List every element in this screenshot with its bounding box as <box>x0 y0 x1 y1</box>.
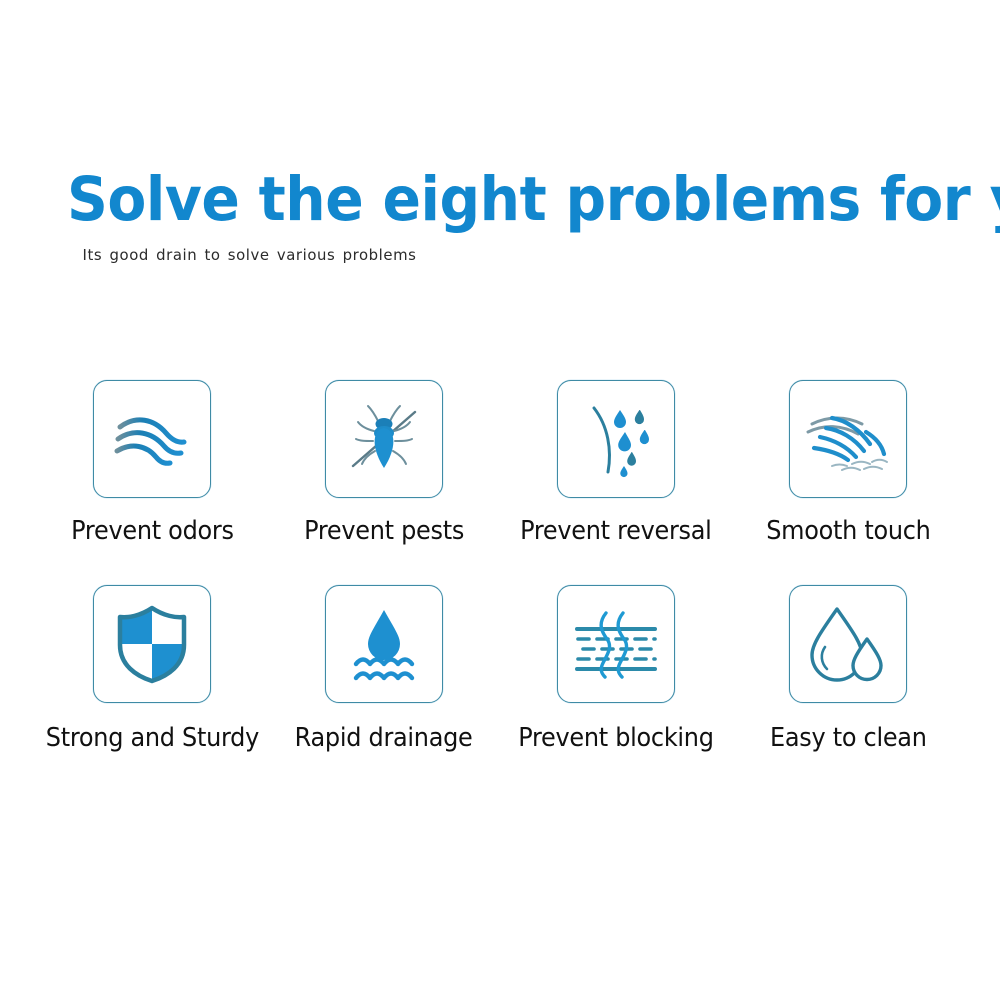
hand-smooth-surface-icon <box>802 402 894 476</box>
icon-box-prevent-blocking <box>557 585 675 703</box>
feature-easy-to-clean[interactable]: Easy to clean <box>742 585 954 752</box>
feature-prevent-reversal[interactable]: Prevent reversal <box>510 380 722 545</box>
icon-box-prevent-odors <box>93 380 211 498</box>
page-subtitle: Its good drain to solve various problems <box>0 232 960 264</box>
icon-box-easy-to-clean <box>789 585 907 703</box>
droplet-waves-icon <box>346 604 422 684</box>
feature-prevent-odors[interactable]: Prevent odors <box>46 380 258 545</box>
feature-strong-and-sturdy[interactable]: Strong and Sturdy <box>46 585 258 752</box>
icon-box-prevent-reversal <box>557 380 675 498</box>
backflow-droplets-icon <box>578 400 654 478</box>
shield-icon <box>114 603 190 685</box>
two-droplets-icon <box>807 603 889 685</box>
feature-label: Prevent pests <box>304 519 464 545</box>
feature-prevent-blocking[interactable]: Prevent blocking <box>510 585 722 752</box>
feature-rapid-drainage[interactable]: Rapid drainage <box>278 585 490 752</box>
icon-box-rapid-drainage <box>325 585 443 703</box>
feature-row-1: Prevent odors <box>0 380 1000 545</box>
feature-label: Strong and Sturdy <box>45 726 258 752</box>
odor-waves-icon <box>112 407 192 471</box>
feature-grid: Prevent odors <box>0 380 1000 751</box>
flow-through-layers-icon <box>573 607 659 681</box>
feature-label: Prevent blocking <box>518 726 713 752</box>
feature-label: Easy to clean <box>770 726 927 752</box>
bug-blocked-icon <box>345 400 423 478</box>
icon-box-prevent-pests <box>325 380 443 498</box>
page-title: Solve the eight problems for you <box>0 168 930 232</box>
icon-box-strong-and-sturdy <box>93 585 211 703</box>
page-header: Solve the eight problems for you Its goo… <box>0 168 1000 264</box>
feature-label: Smooth touch <box>766 519 930 545</box>
feature-label: Rapid drainage <box>295 726 473 752</box>
feature-smooth-touch[interactable]: Smooth touch <box>742 380 954 545</box>
icon-box-smooth-touch <box>789 380 907 498</box>
feature-row-2: Strong and Sturdy Rapid drainage <box>0 585 1000 752</box>
feature-label: Prevent reversal <box>520 519 711 545</box>
feature-prevent-pests[interactable]: Prevent pests <box>278 380 490 545</box>
feature-label: Prevent odors <box>71 519 233 545</box>
